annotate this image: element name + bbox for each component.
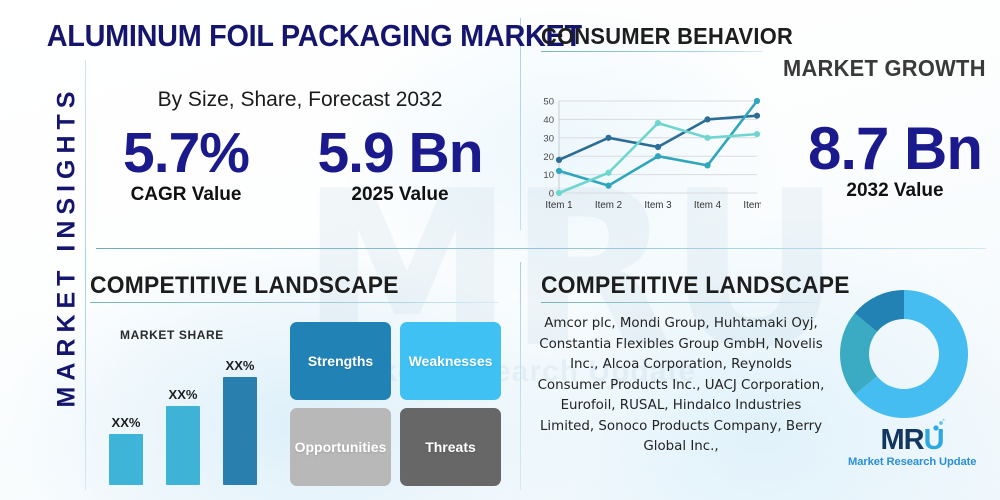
divider-vertical-bottom-middle: [520, 262, 521, 490]
market-insights-rail-label: MARKET INSIGHTS: [53, 27, 82, 467]
market-share-bar-1-value: XX%: [109, 415, 143, 430]
line-chart-ytick: 20: [543, 152, 554, 163]
line-chart-point: [556, 190, 562, 196]
section-rule-consumer-behavior: [541, 51, 763, 52]
kpi-base-year: 5.9 Bn 2025 Value: [300, 122, 500, 206]
section-heading-competitive-landscape-right: COMPETITIVE LANDSCAPE: [541, 272, 850, 300]
brand-logo-mark: MRU: [880, 425, 943, 455]
brand-logo: MRU Market Research Update: [848, 425, 976, 468]
line-chart-xtick: Item 2: [595, 200, 622, 211]
infographic-canvas: MRU Market Research Update MARKET INSIGH…: [0, 0, 1000, 500]
line-chart-point: [754, 113, 760, 119]
kpi-forecast-year-value: 8.7 Bn: [800, 118, 990, 180]
kpi-cagr-value: 5.7%: [96, 122, 276, 184]
line-chart-point: [556, 168, 562, 174]
swot-cell-weaknesses[interactable]: Weaknesses: [400, 322, 501, 400]
market-share-bar-3: XX%: [223, 358, 257, 485]
line-chart-point: [754, 131, 760, 137]
line-chart-point: [655, 144, 661, 150]
market-share-donut-chart: [838, 288, 970, 420]
section-heading-consumer-behavior: CONSUMER BEHAVIOR: [541, 23, 793, 50]
market-share-bar-2-value: XX%: [166, 387, 200, 402]
kpi-base-year-value: 5.9 Bn: [300, 122, 500, 184]
kpi-base-year-caption: 2025 Value: [300, 184, 500, 206]
line-chart-point: [556, 157, 562, 163]
line-chart-ytick: 0: [549, 189, 554, 200]
line-chart-ytick: 50: [543, 97, 554, 108]
line-chart-point: [704, 135, 710, 141]
line-chart-xtick: Item 5: [743, 200, 761, 211]
line-chart-point: [704, 116, 710, 122]
swot-cell-threats[interactable]: Threats: [400, 408, 501, 486]
line-chart-ytick: 10: [543, 170, 554, 181]
line-chart-ytick: 30: [543, 133, 554, 144]
line-chart-xtick: Item 1: [545, 200, 572, 211]
line-chart-point: [605, 170, 611, 176]
line-chart-point: [655, 120, 661, 126]
company-list: Amcor plc, Mondi Group, Huhtamaki Oyj, C…: [536, 314, 826, 458]
market-share-bar-1-rect: [109, 434, 143, 485]
kpi-cagr: 5.7% CAGR Value: [96, 122, 276, 206]
line-chart-point: [605, 183, 611, 189]
line-chart-series-series-2: [559, 101, 757, 186]
bubbles-icon: [932, 418, 946, 432]
page-subtitle: By Size, Share, Forecast 2032: [90, 88, 510, 112]
brand-logo-tagline: Market Research Update: [848, 456, 976, 468]
line-chart-point: [605, 135, 611, 141]
market-share-bar-3-rect: [223, 377, 257, 485]
brand-logo-mark-main: MR: [880, 424, 923, 456]
market-share-bar-2: XX%: [166, 387, 200, 485]
divider-horizontal: [96, 248, 986, 249]
line-chart-ytick: 40: [543, 115, 554, 126]
market-share-bar-chart: XX% XX% XX%: [105, 340, 280, 485]
kpi-forecast-year: 8.7 Bn 2032 Value: [800, 118, 990, 202]
line-chart-point: [754, 98, 760, 104]
swot-matrix: Strengths Weaknesses Opportunities Threa…: [290, 322, 505, 487]
market-share-bar-2-rect: [166, 406, 200, 485]
line-chart-xtick: Item 4: [694, 200, 722, 211]
kpi-cagr-caption: CAGR Value: [96, 184, 276, 206]
market-share-bar-3-value: XX%: [223, 358, 257, 373]
line-chart-point: [704, 162, 710, 168]
line-chart-point: [655, 153, 661, 159]
line-chart-xtick: Item 3: [644, 200, 672, 211]
divider-vertical-left: [85, 60, 86, 490]
section-rule-competitive-landscape-right: [541, 302, 819, 303]
market-share-bar-1: XX%: [109, 415, 143, 485]
swot-cell-strengths[interactable]: Strengths: [290, 322, 391, 400]
kpi-forecast-year-caption: 2032 Value: [800, 180, 990, 202]
page-title: ALUMINUM FOIL PACKAGING MARKET: [47, 18, 492, 54]
consumer-behavior-line-chart: 01020304050Item 1Item 2Item 3Item 4Item …: [533, 95, 761, 215]
swot-cell-opportunities[interactable]: Opportunities: [290, 408, 391, 486]
section-rule-competitive-landscape-left: [90, 302, 498, 303]
section-heading-competitive-landscape-left: COMPETITIVE LANDSCAPE: [90, 272, 399, 300]
section-heading-market-growth: MARKET GROWTH: [783, 55, 986, 82]
